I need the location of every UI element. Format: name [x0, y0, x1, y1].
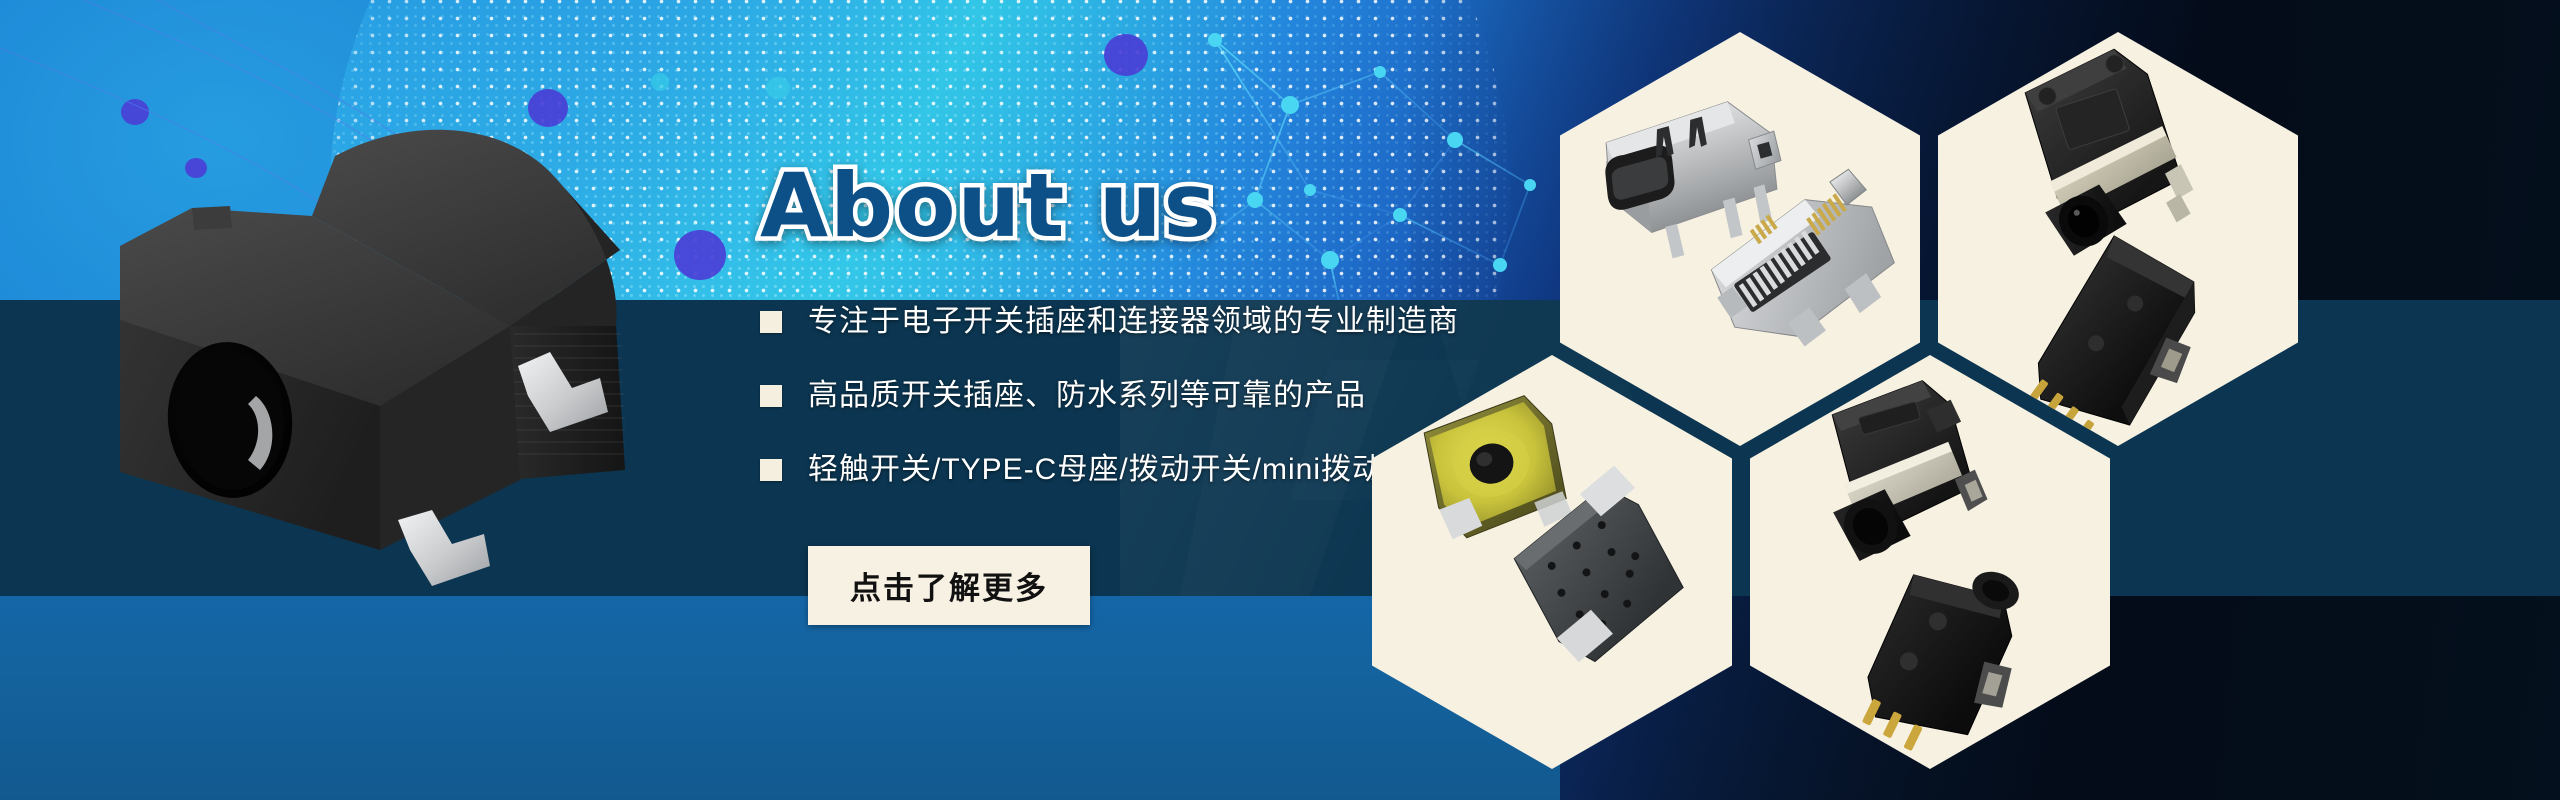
audio-jack-image — [1750, 355, 2110, 769]
square-bullet-icon — [760, 385, 782, 407]
hexagon-tile-usb-type-c[interactable] — [1560, 32, 1920, 446]
learn-more-button[interactable]: 点击了解更多 — [808, 546, 1090, 625]
hero-product-image — [80, 120, 740, 660]
list-item-label: 专注于电子开关插座和连接器领域的专业制造商 — [808, 304, 1459, 340]
about-us-banner: About us 专注于电子开关插座和连接器领域的专业制造商 高品质开关插座、防… — [0, 0, 2560, 800]
product-hexagon-grid — [1540, 10, 2560, 800]
list-item-label: 高品质开关插座、防水系列等可靠的产品 — [808, 378, 1366, 414]
dc-power-jack-image — [1938, 32, 2298, 446]
square-bullet-icon — [760, 459, 782, 481]
usb-type-c-connector-image — [1560, 32, 1920, 446]
hexagon-tile-audio-jack[interactable] — [1750, 355, 2110, 769]
hexagon-tile-dc-power-jack[interactable] — [1938, 32, 2298, 446]
square-bullet-icon — [760, 311, 782, 333]
